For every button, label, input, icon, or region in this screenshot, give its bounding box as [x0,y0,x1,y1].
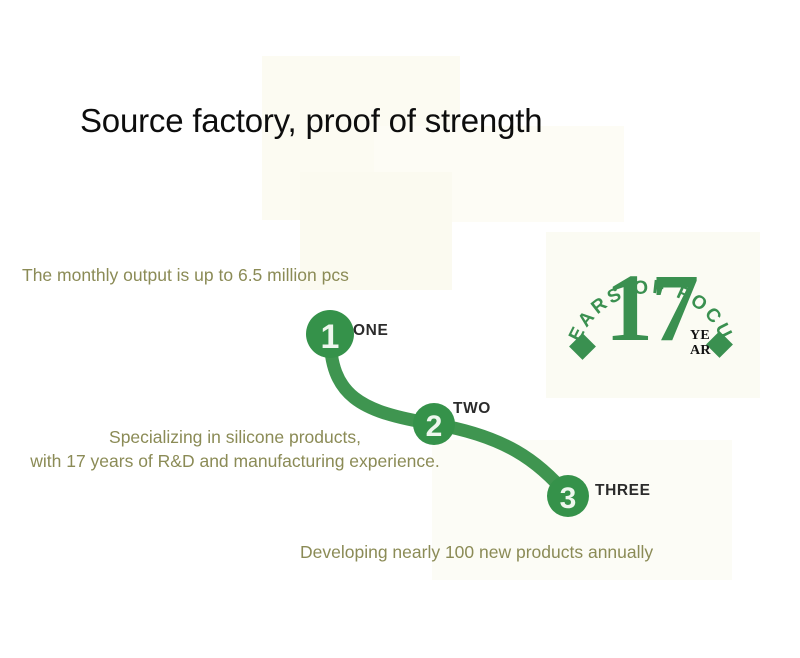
step-1-label: ONE [353,322,388,340]
step-1-number: 1 [321,318,340,356]
step-2-number: 2 [426,410,443,443]
step-2-label: TWO [453,400,491,418]
years-of-focus-badge: YEARS OF FOCUS 17 YE AR [556,236,746,386]
flow-step-3[interactable]: 3 [547,475,589,517]
caption-developing: Developing nearly 100 new products annua… [300,542,653,563]
step-3-label: THREE [595,482,651,500]
page-title: Source factory, proof of strength [80,102,542,140]
caption-monthly-output: The monthly output is up to 6.5 million … [22,265,349,286]
badge-year-label: YE AR [690,329,720,358]
process-flow-diagram: 1 2 3 [290,300,600,530]
badge-year-line2: AR [690,344,720,359]
step-3-number: 3 [560,482,577,515]
badge-year-line1: YE [690,329,720,344]
flow-step-1[interactable]: 1 [306,310,354,358]
background-tint-b [374,126,624,222]
promo-banner: Source factory, proof of strength The mo… [0,0,800,658]
flow-step-2[interactable]: 2 [413,403,455,445]
